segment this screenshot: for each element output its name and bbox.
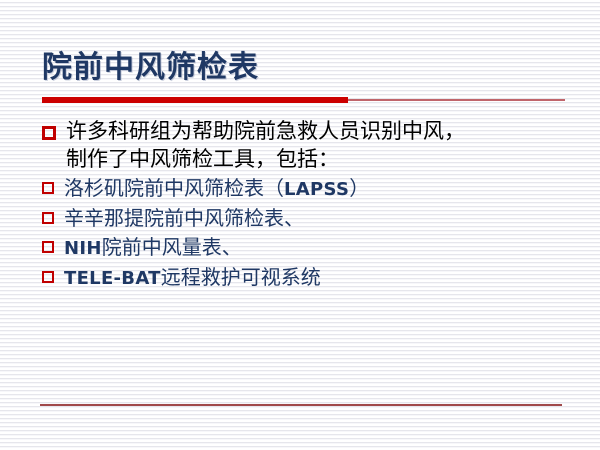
list-item-latin: NIH — [64, 238, 102, 259]
list-item: TELE-BAT远程救护可视系统 — [42, 264, 582, 290]
page-title: 院前中风筛检表 — [42, 52, 572, 84]
list-item-text: 许多科研组为帮助院前急救人员识别中风， 制作了中风筛检工具，包括： — [66, 118, 582, 173]
square-bullet-icon — [42, 126, 56, 140]
square-bullet-icon — [42, 271, 54, 283]
title-underline-thin-segment — [348, 99, 565, 101]
list-item-latin: LAPSS — [284, 179, 349, 200]
list-item: 辛辛那提院前中风筛检表、 — [42, 205, 582, 231]
list-item-line-1: 许多科研组为帮助院前急救人员识别中风， — [66, 118, 582, 146]
list-item-cjk-suffix: ） — [349, 176, 369, 200]
list-item-cjk-prefix: 辛辛那提院前中风筛检表、 — [64, 206, 304, 230]
list-item: NIH院前中风量表、 — [42, 234, 582, 260]
list-item-cjk-suffix: 远程救护可视系统 — [161, 265, 321, 289]
footer-divider — [40, 404, 562, 406]
list-item-text: 洛杉矶院前中风筛检表（LAPSS） — [64, 175, 582, 201]
bullet-list: 许多科研组为帮助院前急救人员识别中风， 制作了中风筛检工具，包括： 洛杉矶院前中… — [42, 118, 582, 293]
list-item-text: 辛辛那提院前中风筛检表、 — [64, 205, 582, 231]
list-item-cjk-prefix: 洛杉矶院前中风筛检表（ — [64, 176, 284, 200]
title-underline — [42, 97, 565, 103]
list-item-text: NIH院前中风量表、 — [64, 234, 582, 260]
title-block: 院前中风筛检表 — [42, 52, 572, 84]
title-underline-thick-segment — [42, 97, 348, 103]
list-item-latin: TELE-BAT — [64, 268, 161, 289]
square-bullet-icon — [42, 182, 54, 194]
list-item: 洛杉矶院前中风筛检表（LAPSS） — [42, 175, 582, 201]
list-item-text: TELE-BAT远程救护可视系统 — [64, 264, 582, 290]
slide-canvas: 院前中风筛检表 许多科研组为帮助院前急救人员识别中风， 制作了中风筛检工具，包括… — [0, 0, 600, 450]
list-item-cjk-suffix: 院前中风量表、 — [102, 235, 242, 259]
square-bullet-icon — [42, 212, 54, 224]
square-bullet-icon — [42, 241, 54, 253]
list-item-line-2: 制作了中风筛检工具，包括： — [66, 146, 582, 174]
list-item: 许多科研组为帮助院前急救人员识别中风， 制作了中风筛检工具，包括： — [42, 118, 582, 173]
